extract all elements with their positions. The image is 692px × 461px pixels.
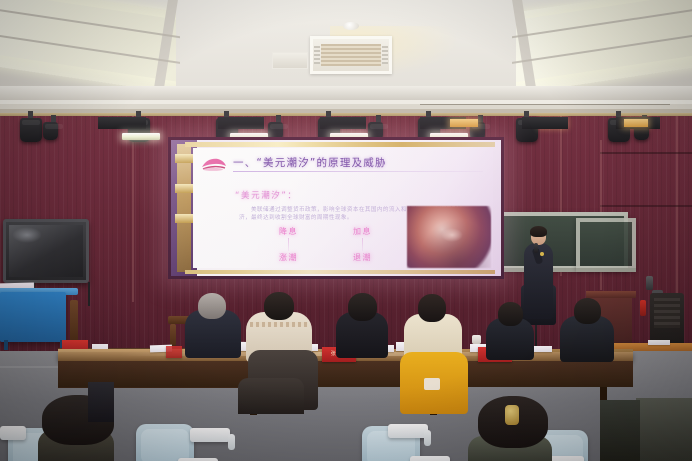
presenter-badge — [540, 252, 544, 256]
slide-keyword-bottom-right: 退潮 — [353, 252, 372, 263]
slide-title-rule — [233, 171, 483, 172]
slide-keyword-top-right: 加息 — [353, 226, 372, 237]
smoke-detector-icon — [343, 22, 359, 30]
stage-spotlight-1 — [20, 118, 42, 142]
ceiling — [0, 0, 692, 112]
ac-vent-side-left — [314, 46, 320, 64]
chalk-rail-right — [576, 268, 636, 272]
wave-icon — [201, 156, 227, 171]
chair-tablet-3[interactable] — [388, 424, 428, 438]
podium-leg-1 — [4, 340, 8, 350]
podium-desk — [0, 292, 66, 342]
ac-vent-side-right — [382, 46, 388, 64]
conference-table-body — [58, 361, 633, 387]
stool-left — [70, 300, 78, 342]
slide-ornament-notch-3 — [175, 214, 193, 223]
truss-cable — [420, 104, 670, 105]
presenter-hair — [530, 226, 547, 237]
tv-glare — [12, 227, 42, 243]
slide-keyword-bottom-left: 涨潮 — [279, 252, 298, 263]
fire-extinguisher-icon — [640, 300, 646, 316]
tv-cable — [88, 282, 90, 306]
name-placard-3 — [166, 346, 182, 358]
chair-tablet-4[interactable] — [410, 456, 450, 461]
air-diffuser — [272, 52, 308, 69]
wall-seam-1 — [132, 116, 134, 302]
wooden-podium-top — [586, 291, 636, 298]
lecture-chair-2-back — [141, 429, 189, 461]
slide-ornament-gold — [177, 144, 191, 272]
paper-right-table — [648, 340, 670, 345]
fluorescent-housing-2 — [218, 117, 264, 129]
door-frame-upper — [600, 152, 692, 154]
cup-2 — [472, 335, 481, 344]
attendee-3-head — [348, 293, 377, 321]
slide-ornament-notch-1 — [175, 154, 193, 163]
slide-border-bottom — [185, 270, 495, 274]
attendee-6-head — [574, 298, 601, 324]
floor-line — [0, 366, 60, 368]
slide-title: 一、“美元潮汐”的原理及威胁 — [233, 155, 387, 170]
office-chair-back — [654, 298, 680, 328]
ac-grille-icon — [321, 44, 381, 66]
slide-content-area: 一、“美元潮汐”的原理及威胁 “美元潮汐”： 美联储通过调整货币政策，影响全球资… — [193, 148, 493, 268]
attendee-2-coat-front — [238, 378, 304, 414]
slide-border-top — [185, 142, 495, 147]
slide-ornament-notch-2 — [175, 184, 193, 193]
fluorescent-tube-1 — [122, 133, 160, 140]
chair-tablet-1[interactable] — [190, 428, 230, 442]
lecture-chair-2[interactable] — [136, 424, 194, 461]
attendee-corner-left — [88, 382, 114, 422]
wall-mounted-tv[interactable] — [3, 219, 89, 283]
projection-screen[interactable]: 一、“美元潮汐”的原理及威胁 “美元潮汐”： 美联储通过调整货币政策，影响全球资… — [171, 140, 501, 276]
warm-light-1 — [450, 119, 478, 127]
handheld-microphone — [534, 243, 538, 253]
chair-tablet-arm-1 — [228, 434, 235, 450]
warm-light-3 — [624, 119, 648, 127]
attendee-5-head — [498, 302, 523, 326]
attendee-2-sweater-pattern — [250, 322, 308, 327]
ac-vent — [310, 36, 392, 74]
lecture-hall-photo: 一、“美元潮汐”的原理及威胁 “美元潮汐”： 美联储通过调整货币政策，影响全球资… — [0, 0, 692, 461]
door-handle-icon[interactable] — [646, 276, 653, 290]
chair-corner-right — [600, 400, 640, 461]
stage-spotlight-1b — [43, 122, 58, 140]
attendee-1-head — [198, 293, 226, 319]
attendee-4-tag — [424, 378, 440, 390]
attendee-corner-right — [636, 398, 692, 461]
blackboard-right — [576, 218, 636, 270]
hairclip-icon — [505, 405, 519, 425]
fluorescent-housing-1 — [98, 117, 146, 129]
chair-tablet-7[interactable] — [0, 426, 26, 440]
chair-tablet-arm-3 — [424, 430, 431, 446]
wooden-chair-post-1 — [170, 324, 176, 346]
globe-highlight — [441, 228, 463, 242]
fluorescent-housing-3 — [320, 117, 366, 129]
slide-arrow-right — [362, 238, 363, 251]
fluorescent-housing-5 — [522, 117, 568, 129]
slide-arrow-left — [288, 238, 289, 251]
slide-keyword-top-left: 降息 — [279, 226, 298, 237]
slide-subtitle: “美元潮汐”： — [235, 189, 298, 201]
attendee-2-head — [264, 292, 294, 320]
door-frame-top — [600, 205, 692, 207]
attendee-4-head — [418, 294, 446, 322]
